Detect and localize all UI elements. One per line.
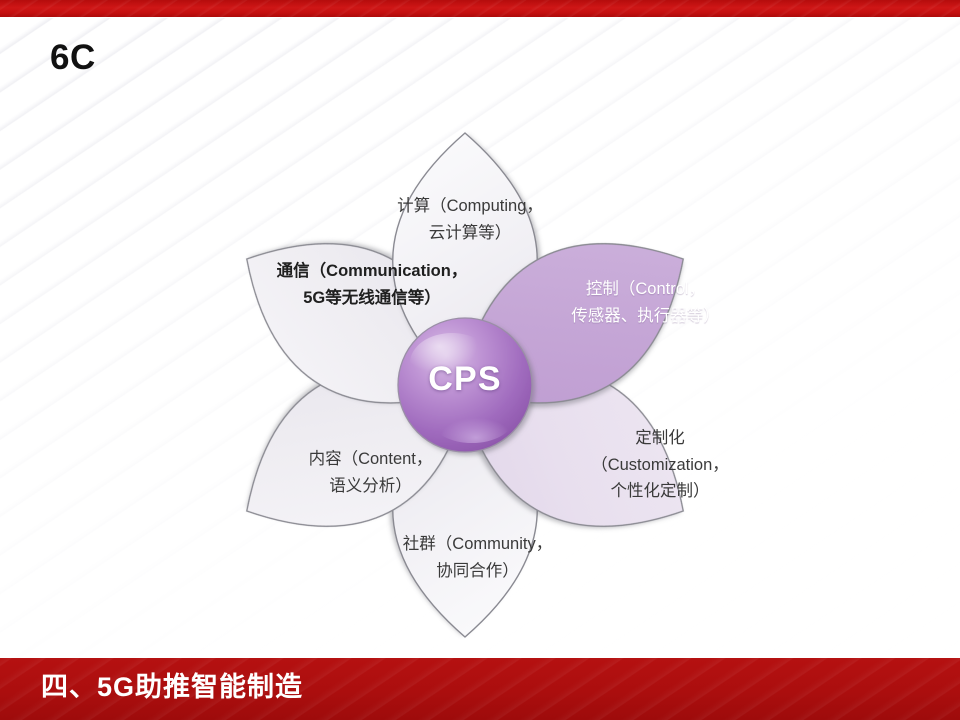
slide-canvas: 6C <box>0 0 960 720</box>
center-sphere-bounce-light <box>432 399 512 443</box>
petal-community[interactable] <box>393 379 538 637</box>
petal-diagram: 计算（Computing， 云计算等） 通信（Communication， 5G… <box>0 0 960 720</box>
page-title: 6C <box>50 40 96 75</box>
petal-label-control: 控制（Control， 传感器、执行器等） <box>508 276 783 329</box>
petal-label-content: 内容（Content， 语义分析） <box>238 446 503 499</box>
center-sphere-label: CPS <box>400 360 530 399</box>
petal-label-communication: 通信（Communication， 5G等无线通信等） <box>222 258 522 311</box>
petal-label-customization: 定制化 （Customization， 个性化定制） <box>520 425 800 505</box>
top-bar-texture <box>0 0 960 17</box>
bottom-accent-bar: 四、5G助推智能制造 <box>0 658 960 720</box>
petal-shape-community[interactable] <box>393 379 538 637</box>
top-accent-bar <box>0 0 960 17</box>
petal-label-computing: 计算（Computing， 云计算等） <box>340 193 600 246</box>
petal-label-community: 社群（Community， 协同合作） <box>340 531 615 584</box>
footer-section-title: 四、5G助推智能制造 <box>41 674 303 701</box>
